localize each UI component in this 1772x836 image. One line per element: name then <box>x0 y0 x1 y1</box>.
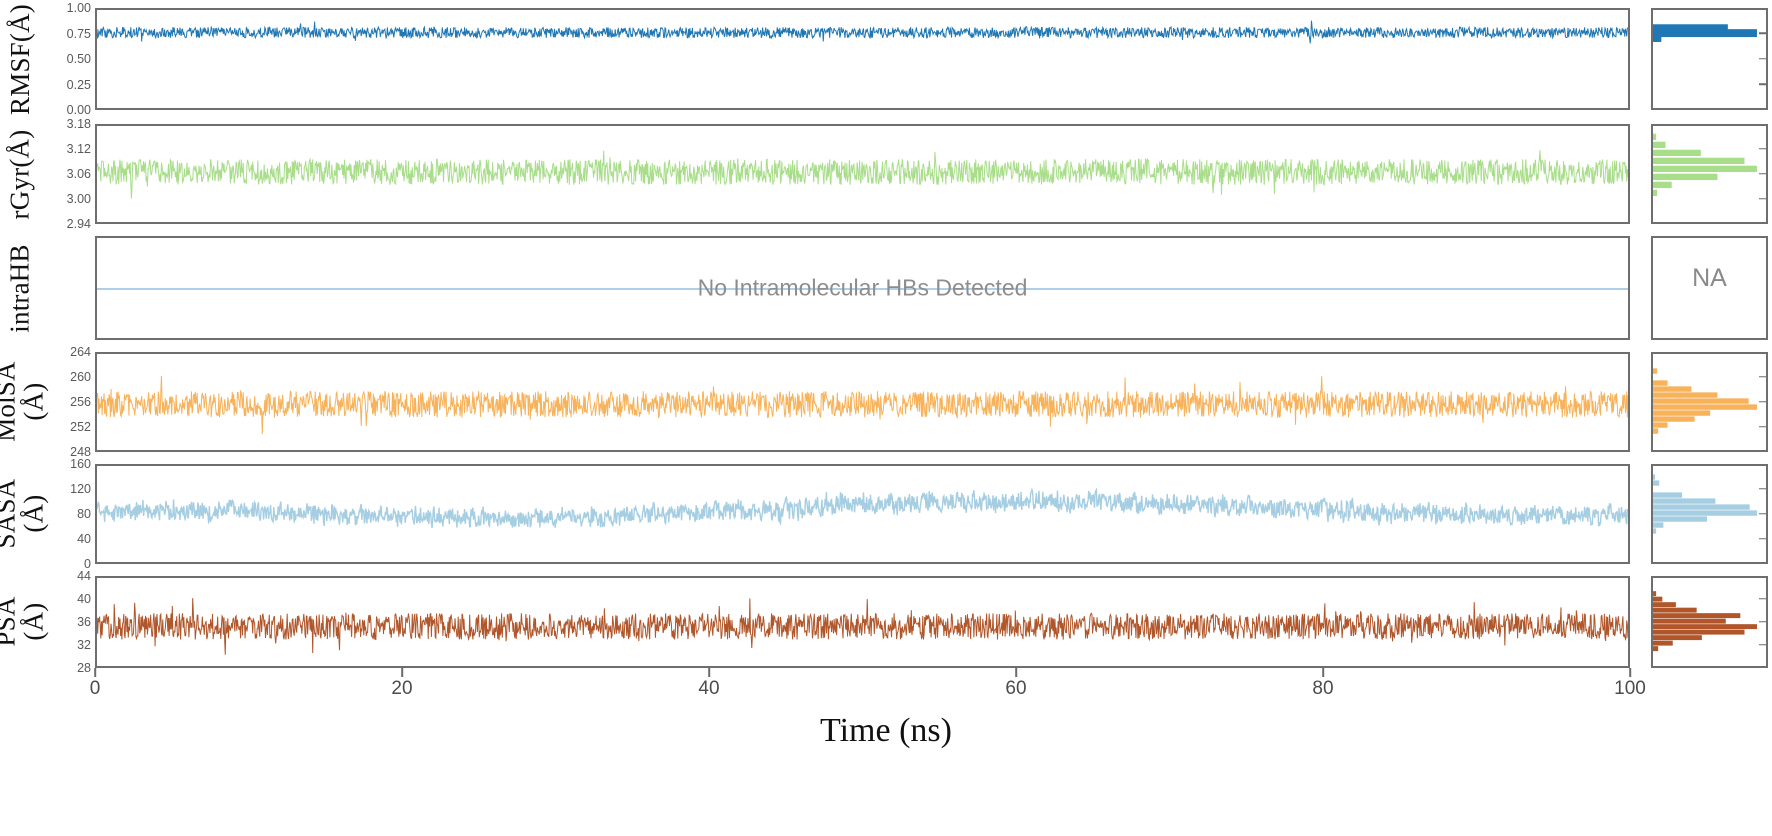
x-tick-label-3: 60 <box>1005 678 1026 700</box>
panel-intrahb-plot: No Intramolecular HBs Detected <box>95 236 1630 340</box>
panel-rmsf-ytick-4: 1.00 <box>67 1 91 15</box>
panel-sasa-ylabel-line-0: SASA <box>0 479 20 549</box>
panel-intrahb-ylabel-wrap: intraHB <box>0 236 40 340</box>
intrahb-histogram-na-label: NA <box>1692 264 1727 293</box>
panel-psa-histogram <box>1651 576 1768 668</box>
panel-psa-ytick-1: 32 <box>77 638 91 652</box>
panel-sasa-hist-ytickmark-1 <box>1759 538 1766 540</box>
panel-rgyr-histogram <box>1651 124 1768 224</box>
x-tickmark-2 <box>708 668 710 677</box>
panel-molsa-ytick-1: 252 <box>70 420 91 434</box>
panel-sasa-ytick-column: 04080120160 <box>37 464 95 564</box>
panel-psa-hist-ytickmark-1 <box>1759 644 1766 646</box>
panel-molsa-hist-ytickmark-1 <box>1759 426 1766 428</box>
panel-rgyr-hist-ytickmark-1 <box>1759 198 1766 200</box>
panel-rgyr-hist-ytickmark-3 <box>1759 148 1766 150</box>
panel-psa-ytick-column: 2832364044 <box>37 576 95 668</box>
panel-rgyr-ytick-2: 3.06 <box>67 167 91 181</box>
panel-psa-plot <box>95 576 1630 668</box>
panel-rmsf-ytick-3: 0.75 <box>67 27 91 41</box>
x-tickmark-3 <box>1015 668 1017 677</box>
panel-rmsf-ylabel-wrap: RMSF(Å) <box>0 8 40 110</box>
panel-rmsf-hist-ytickmark-2 <box>1759 58 1766 60</box>
panel-psa-ytick-3: 40 <box>77 592 91 606</box>
panel-psa-ylabel-line-0: PSA <box>0 597 20 647</box>
panel-sasa-ytick-4: 160 <box>70 457 91 471</box>
panel-sasa-trace <box>97 466 1628 562</box>
panel-rmsf-ytick-1: 0.25 <box>67 78 91 92</box>
x-tickmark-5 <box>1629 668 1631 677</box>
panel-molsa-ytick-4: 264 <box>70 345 91 359</box>
panel-sasa-ytick-1: 40 <box>77 532 91 546</box>
x-tickmark-1 <box>401 668 403 677</box>
panel-rgyr-histogram-bars <box>1653 126 1766 222</box>
panel-psa-ytick-4: 44 <box>77 569 91 583</box>
panel-molsa-ytick-2: 256 <box>70 395 91 409</box>
panel-rmsf-ytick-column: 0.000.250.500.751.00 <box>37 8 95 110</box>
md-simulation-properties-figure: RMSF(Å)0.000.250.500.751.00rGyr(Å)2.943.… <box>0 0 1772 836</box>
panel-rmsf-hist-ytickmark-3 <box>1759 32 1766 34</box>
panel-sasa-ylabel-wrap: SASA(Å) <box>0 464 40 564</box>
x-tick-label-5: 100 <box>1614 678 1646 700</box>
panel-rmsf-ytick-0: 0.00 <box>67 103 91 117</box>
panel-rgyr-ytick-3: 3.12 <box>67 142 91 156</box>
panel-rmsf-histogram-bars <box>1653 10 1766 108</box>
panel-molsa-plot <box>95 352 1630 452</box>
panel-molsa-ylabel-wrap: MolSA(Å) <box>0 352 40 452</box>
panel-rmsf-histogram <box>1651 8 1768 110</box>
panel-molsa-ytick-3: 260 <box>70 370 91 384</box>
panel-sasa-plot <box>95 464 1630 564</box>
panel-molsa-hist-ytickmark-2 <box>1759 401 1766 403</box>
x-tick-label-0: 0 <box>90 678 101 700</box>
x-tick-label-2: 40 <box>698 678 719 700</box>
x-tick-label-4: 80 <box>1312 678 1333 700</box>
x-tickmark-0 <box>94 668 96 677</box>
panel-rgyr-ytick-column: 2.943.003.063.123.18 <box>37 124 95 224</box>
panel-psa-trace <box>97 578 1628 666</box>
panel-molsa-ytick-column: 248252256260264 <box>37 352 95 452</box>
panel-psa-histogram-bars <box>1653 578 1766 666</box>
panel-rmsf-ytick-2: 0.50 <box>67 52 91 66</box>
panel-sasa-histogram-bars <box>1653 466 1766 562</box>
panel-psa-ytick-2: 36 <box>77 615 91 629</box>
panel-psa-ylabel-wrap: PSA(Å) <box>0 576 40 668</box>
panel-rgyr-hist-ytickmark-2 <box>1759 173 1766 175</box>
panel-molsa-histogram <box>1651 352 1768 452</box>
x-axis-title: Time (ns) <box>0 712 1772 750</box>
x-tick-label-1: 20 <box>391 678 412 700</box>
panel-rgyr-trace <box>97 126 1628 222</box>
panel-intrahb-ytick-column <box>37 236 95 340</box>
panel-sasa-ytick-2: 80 <box>77 507 91 521</box>
panel-intrahb-ylabel: intraHB <box>5 244 36 332</box>
intrahb-no-data-note: No Intramolecular HBs Detected <box>698 275 1028 302</box>
panel-rgyr-ylabel-wrap: rGyr(Å) <box>0 124 40 224</box>
x-tickmark-4 <box>1322 668 1324 677</box>
panel-rmsf-plot <box>95 8 1630 110</box>
panel-rgyr-ytick-1: 3.00 <box>67 192 91 206</box>
panel-psa-ytick-0: 28 <box>77 661 91 675</box>
panel-intrahb-histogram: NA <box>1651 236 1768 340</box>
panel-rgyr-ylabel: rGyr(Å) <box>5 129 36 219</box>
panel-rgyr-ytick-4: 3.18 <box>67 117 91 131</box>
panel-psa-hist-ytickmark-3 <box>1759 598 1766 600</box>
panel-sasa-hist-ytickmark-3 <box>1759 488 1766 490</box>
panel-sasa-hist-ytickmark-2 <box>1759 513 1766 515</box>
panel-rmsf-ylabel: RMSF(Å) <box>5 4 36 115</box>
panel-rmsf-hist-ytickmark-1 <box>1759 83 1766 85</box>
panel-rmsf-trace <box>97 10 1628 108</box>
panel-psa-hist-ytickmark-2 <box>1759 621 1766 623</box>
panel-molsa-histogram-bars <box>1653 354 1766 450</box>
panel-molsa-ylabel-line-0: MolSA <box>0 362 20 443</box>
panel-sasa-ytick-3: 120 <box>70 482 91 496</box>
panel-molsa-trace <box>97 354 1628 450</box>
panel-rgyr-plot <box>95 124 1630 224</box>
panel-rgyr-ytick-0: 2.94 <box>67 217 91 231</box>
panel-molsa-hist-ytickmark-3 <box>1759 376 1766 378</box>
panel-sasa-histogram <box>1651 464 1768 564</box>
